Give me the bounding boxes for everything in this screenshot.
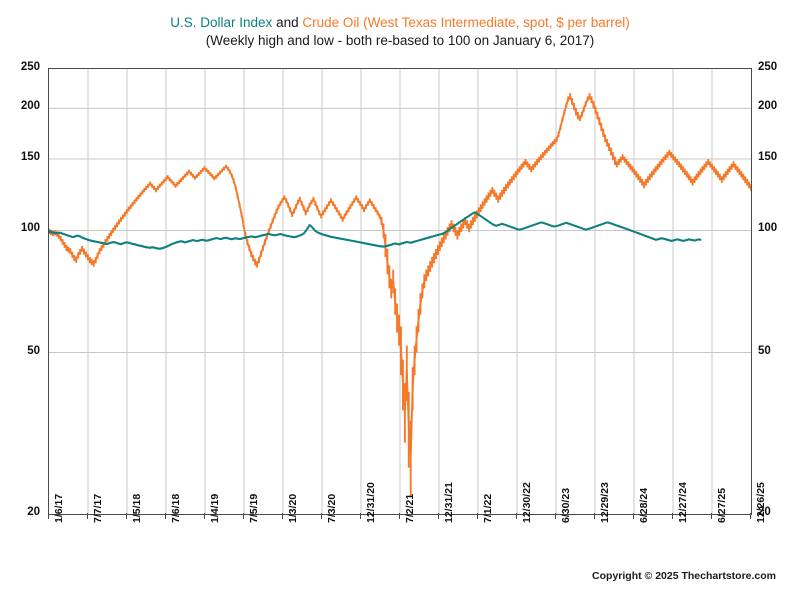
x-tick-mark: [477, 513, 478, 519]
x-tick-label: 12/30/22: [521, 482, 533, 523]
x-tick-label: 12/29/23: [599, 482, 611, 523]
x-tick-mark: [672, 513, 673, 519]
x-tick-mark: [360, 513, 361, 519]
y-tick-label-left: 50: [6, 345, 40, 357]
x-tick-label: 12/26/25: [755, 482, 767, 523]
y-tick-label-left: 200: [6, 100, 40, 112]
x-tick-label: 12/31/20: [365, 482, 377, 523]
y-tick-label-right: 250: [758, 61, 798, 73]
copyright-notice: Copyright © 2025 Thechartstore.com: [592, 570, 776, 582]
y-tick-label-right: 100: [758, 222, 798, 234]
x-tick-mark: [321, 513, 322, 519]
title-conjunction: and: [272, 15, 302, 30]
y-tick-label-right: 50: [758, 345, 798, 357]
x-tick-label: 6/27/25: [716, 488, 728, 523]
x-tick-label: 12/31/21: [443, 482, 455, 523]
x-tick-label: 7/3/20: [326, 494, 338, 523]
plot-area: [48, 68, 752, 515]
x-tick-mark: [633, 513, 634, 519]
x-tick-label: 1/3/20: [287, 494, 299, 523]
x-tick-mark: [438, 513, 439, 519]
x-tick-mark: [594, 513, 595, 519]
x-tick-mark: [126, 513, 127, 519]
y-tick-label-left: 20: [6, 506, 40, 518]
y-tick-label-left: 150: [6, 151, 40, 163]
x-tick-label: 6/28/24: [638, 488, 650, 523]
x-tick-label: 7/1/22: [482, 494, 494, 523]
x-tick-mark: [243, 513, 244, 519]
y-tick-label-right: 150: [758, 151, 798, 163]
x-tick-label: 7/2/21: [404, 494, 416, 523]
y-tick-label-left: 250: [6, 61, 40, 73]
x-tick-mark: [516, 513, 517, 519]
x-tick-label: 12/27/24: [677, 482, 689, 523]
y-tick-label-right: 200: [758, 100, 798, 112]
chart-canvas: [49, 69, 751, 514]
x-top-tick-mark: [48, 68, 49, 74]
x-tick-label: 7/7/17: [92, 494, 104, 523]
chart-page: U.S. Dollar Index and Crude Oil (West Te…: [0, 0, 800, 600]
x-tick-mark: [282, 513, 283, 519]
x-tick-mark: [165, 513, 166, 519]
x-tick-mark: [750, 513, 751, 519]
x-tick-mark: [87, 513, 88, 519]
x-tick-label: 1/5/18: [131, 494, 143, 523]
x-tick-label: 6/30/23: [560, 488, 572, 523]
chart-title: U.S. Dollar Index and Crude Oil (West Te…: [0, 14, 800, 32]
y-tick-label-left: 100: [6, 222, 40, 234]
x-tick-label: 1/4/19: [209, 494, 221, 523]
title-series-oil: Crude Oil (West Texas Intermediate, spot…: [302, 15, 629, 30]
x-tick-label: 7/5/19: [248, 494, 260, 523]
x-tick-label: 7/6/18: [170, 494, 182, 523]
x-tick-mark: [399, 513, 400, 519]
x-tick-mark: [204, 513, 205, 519]
chart-subtitle: (Weekly high and low - both re-based to …: [0, 32, 800, 50]
chart-title-block: U.S. Dollar Index and Crude Oil (West Te…: [0, 14, 800, 50]
x-tick-mark: [711, 513, 712, 519]
x-tick-mark: [48, 513, 49, 519]
x-tick-mark: [555, 513, 556, 519]
x-tick-label: 1/6/17: [53, 494, 65, 523]
title-series-usd: U.S. Dollar Index: [170, 15, 272, 30]
